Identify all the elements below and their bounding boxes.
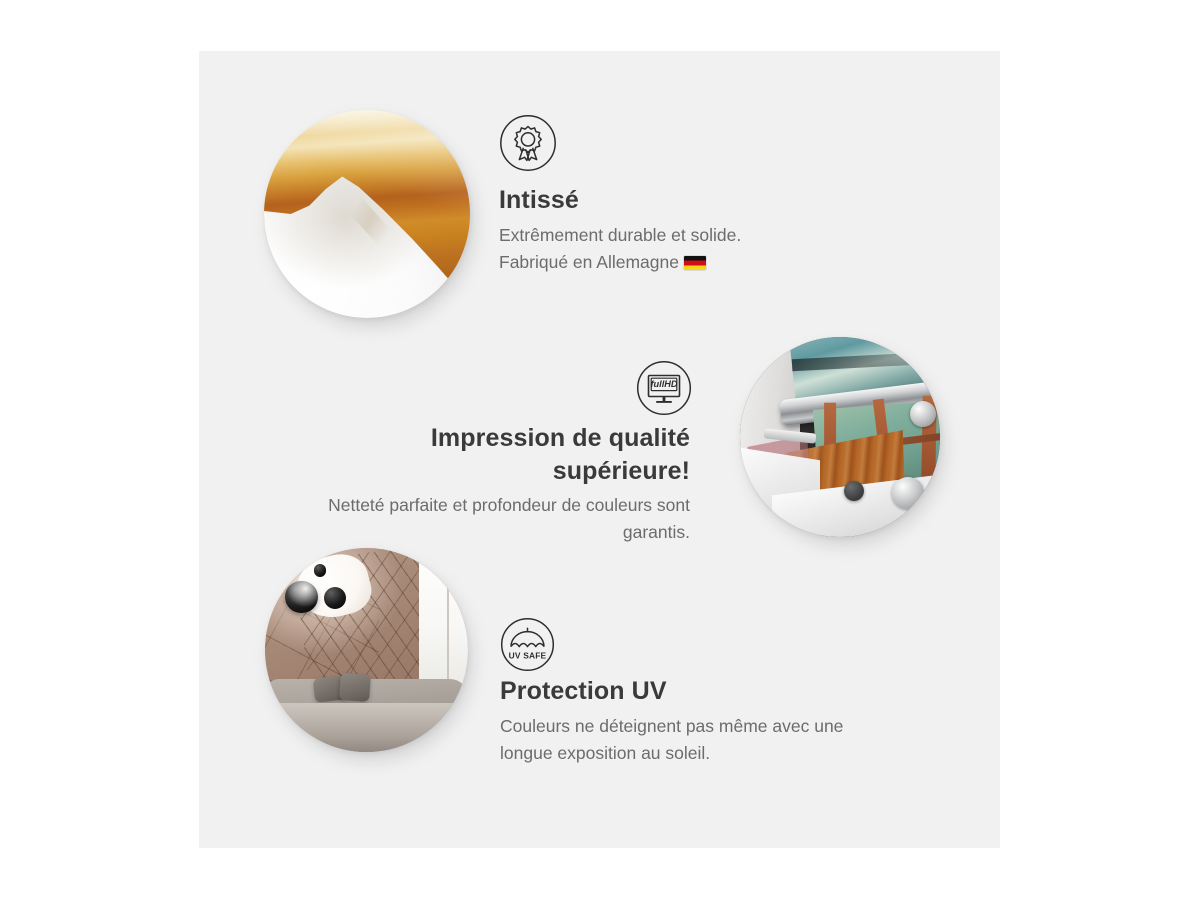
sofa-cushion: [339, 673, 371, 702]
photo-uv-wrap: [265, 548, 468, 752]
svg-text:UV SAFE: UV SAFE: [509, 650, 547, 660]
infographic-canvas: Intissé Extrêmement durable et solide. F…: [0, 0, 1200, 900]
sofa-seat: [269, 703, 464, 752]
media-streak: [792, 351, 940, 371]
window: [419, 548, 468, 699]
photo-sheen: [264, 110, 470, 318]
roller-end-cap: [892, 477, 924, 509]
text-block-nonwoven: Intissé Extrêmement durable et solide. F…: [499, 184, 741, 276]
german-flag-icon: [684, 256, 706, 270]
uv-umbrella-icon: UV SAFE: [500, 617, 555, 672]
photo-wallpaper-roll: [264, 110, 470, 318]
fullhd-monitor-icon: fullHD: [636, 360, 692, 416]
text-block-print: Impression de qualité supérieure! Nettet…: [290, 422, 690, 546]
content-panel: Intissé Extrêmement durable et solide. F…: [199, 51, 1000, 848]
light-glare: [283, 568, 328, 609]
photo-nonwoven-wrap: [264, 110, 470, 318]
svg-text:fullHD: fullHD: [650, 379, 677, 389]
body-line-text: Fabriqué en Allemagne: [499, 252, 679, 272]
feature-heading-nonwoven: Intissé: [499, 184, 741, 216]
photo-print-wrap: [740, 337, 940, 537]
window-mullion: [447, 548, 449, 699]
feature-body-uv: Couleurs ne déteignent pas même avec une…: [500, 713, 843, 767]
printer-knob: [844, 481, 864, 501]
feature-body-nonwoven: Extrêmement durable et solide. Fabriqué …: [499, 222, 741, 276]
photo-large-format-printer: [740, 337, 940, 537]
body-line: Netteté parfaite et profondeur de couleu…: [290, 492, 690, 519]
body-line: longue exposition au soleil.: [500, 740, 843, 767]
feature-heading-uv: Protection UV: [500, 675, 843, 707]
body-line: Couleurs ne déteignent pas même avec une: [500, 713, 843, 740]
award-rosette-icon: [499, 114, 557, 172]
feature-body-print: Netteté parfaite et profondeur de couleu…: [290, 492, 690, 546]
roller-end-cap: [910, 401, 936, 427]
photo-living-room-mural: [265, 548, 468, 752]
body-line: Extrêmement durable et solide.: [499, 222, 741, 249]
text-block-uv: Protection UV Couleurs ne déteignent pas…: [500, 675, 843, 767]
body-line: garantis.: [290, 519, 690, 546]
feature-heading-print: Impression de qualité supérieure!: [290, 422, 690, 488]
body-line-with-flag: Fabriqué en Allemagne: [499, 249, 741, 276]
